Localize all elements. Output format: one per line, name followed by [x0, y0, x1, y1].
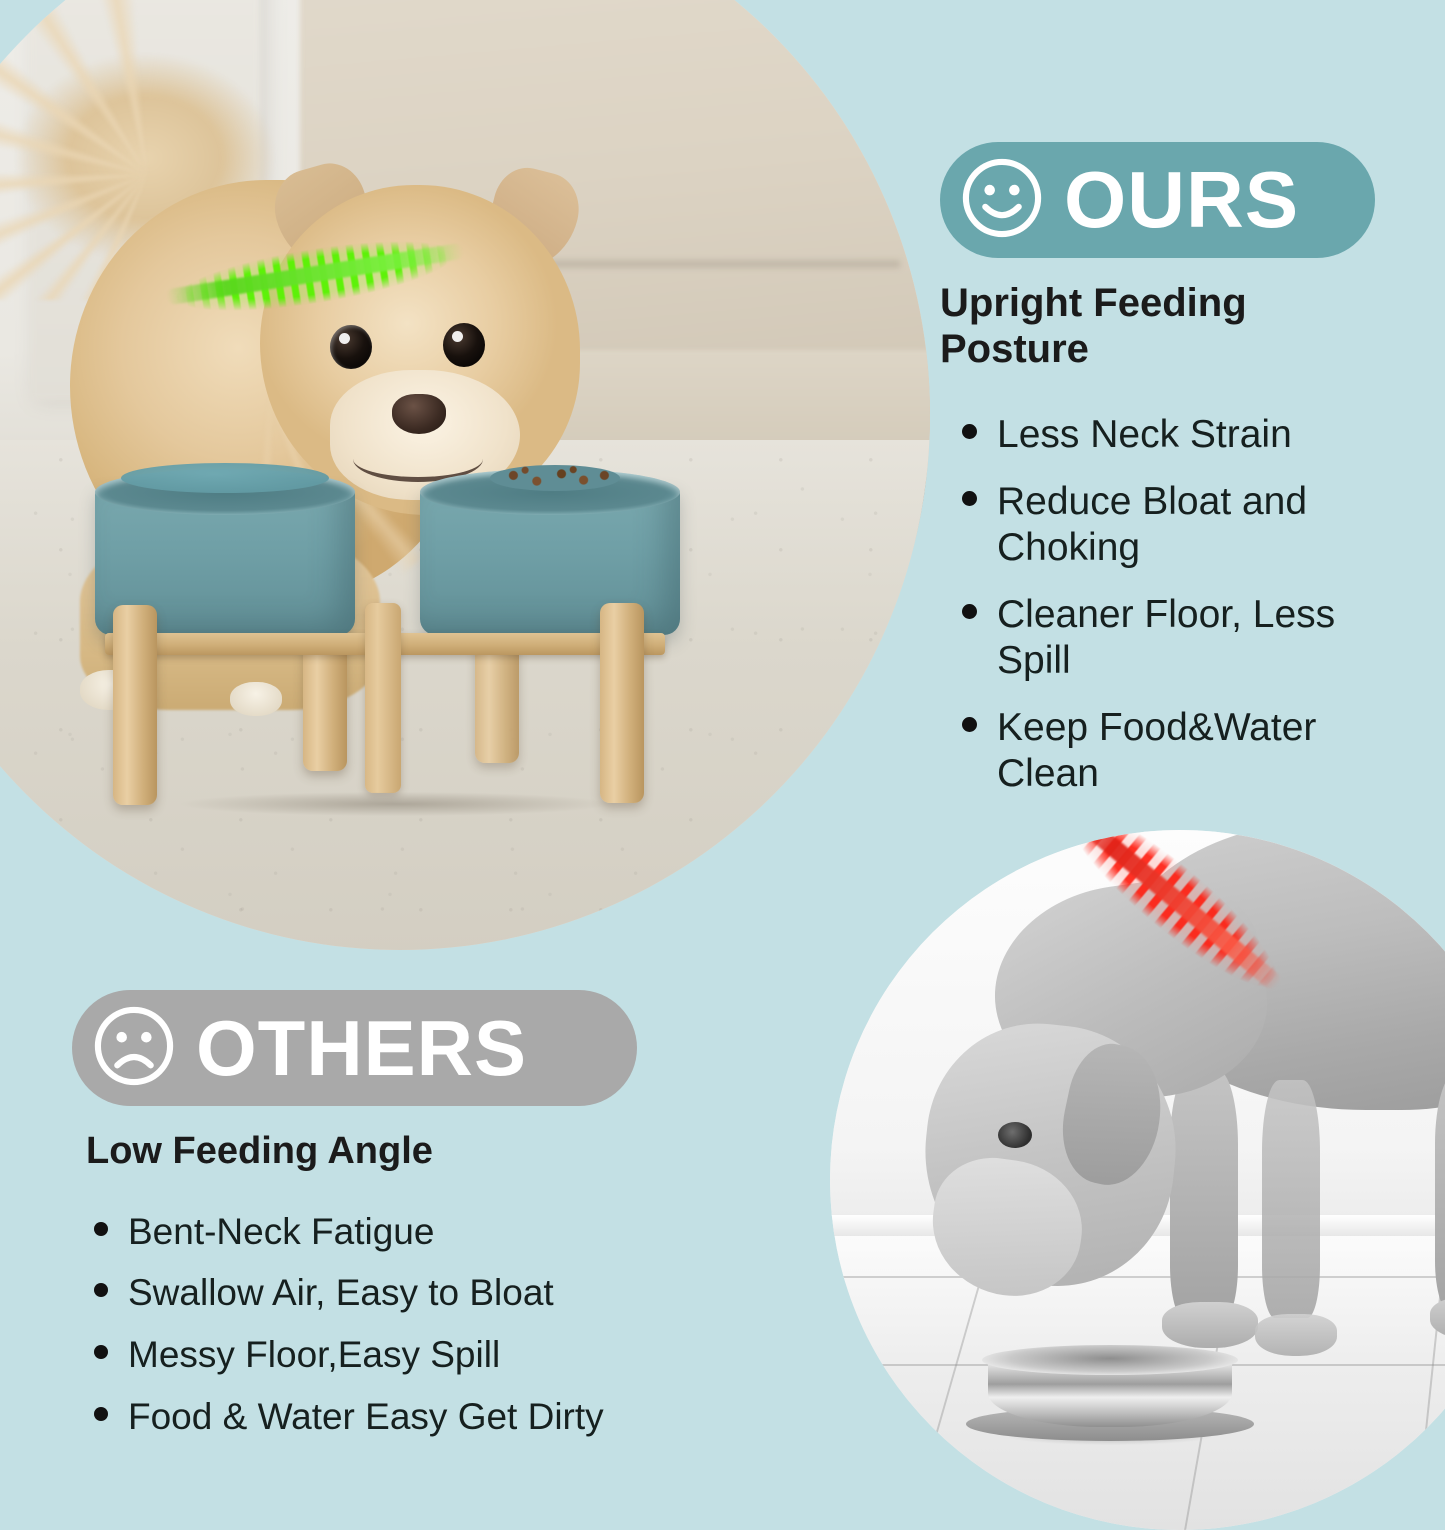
- list-item: Food & Water Easy Get Dirty: [94, 1395, 652, 1439]
- ours-benefits-list: Less Neck Strain Reduce Bloat and Chokin…: [962, 412, 1390, 797]
- dog-paw: [1162, 1302, 1258, 1348]
- others-badge: OTHERS: [72, 990, 637, 1106]
- bullet-dot-icon: [962, 491, 977, 506]
- bullet-dot-icon: [94, 1283, 108, 1297]
- bullet-dot-icon: [94, 1222, 108, 1236]
- others-panel: OTHERS Low Feeding Angle Bent-Neck Fatig…: [72, 990, 652, 1456]
- bowl-rim: [982, 1345, 1238, 1375]
- ours-badge: OURS: [940, 142, 1375, 258]
- list-item-label: Food & Water Easy Get Dirty: [128, 1395, 604, 1439]
- pomeranian-with-elevated-bowls-photo: [0, 0, 930, 950]
- list-item-label: Cleaner Floor, Less Spill: [997, 592, 1390, 684]
- dog-eye-left: [330, 325, 372, 369]
- bowl-water: [121, 463, 329, 493]
- list-item: Messy Floor,Easy Spill: [94, 1333, 652, 1377]
- bowl-kibble: [490, 465, 620, 491]
- dog-paw: [1430, 1296, 1445, 1340]
- dog-paw: [1255, 1314, 1337, 1356]
- list-item-label: Swallow Air, Easy to Bloat: [128, 1271, 554, 1315]
- ours-panel: OURS Upright Feeding Posture Less Neck S…: [940, 142, 1390, 818]
- list-item: Cleaner Floor, Less Spill: [962, 592, 1390, 684]
- smiley-face-icon: [958, 154, 1046, 247]
- list-item-label: Messy Floor,Easy Spill: [128, 1333, 500, 1377]
- list-item: Swallow Air, Easy to Bloat: [94, 1271, 652, 1315]
- dog-nose: [392, 394, 446, 434]
- ours-subtitle: Upright Feeding Posture: [940, 280, 1390, 372]
- bullet-dot-icon: [962, 717, 977, 732]
- elevated-double-bowl-stand: [75, 475, 715, 805]
- sad-face-icon: [90, 1002, 178, 1095]
- large-dog-bending-to-floor-bowl-photo: [830, 830, 1445, 1530]
- others-badge-label: OTHERS: [196, 1009, 527, 1087]
- ours-badge-label: OURS: [1064, 160, 1299, 240]
- list-item-label: Less Neck Strain: [997, 412, 1292, 458]
- grey-dog: [870, 830, 1445, 1350]
- others-subtitle: Low Feeding Angle: [86, 1130, 652, 1174]
- stand-center-post: [365, 603, 401, 793]
- stand-shadow: [95, 787, 695, 821]
- list-item-label: Bent-Neck Fatigue: [128, 1210, 434, 1254]
- bullet-dot-icon: [962, 424, 977, 439]
- others-drawbacks-list: Bent-Neck Fatigue Swallow Air, Easy to B…: [94, 1210, 652, 1439]
- list-item: Reduce Bloat and Choking: [962, 479, 1390, 571]
- room-background: [0, 0, 930, 950]
- bullet-dot-icon: [94, 1345, 108, 1359]
- stand-leg: [113, 605, 157, 805]
- dog-eye-right: [443, 323, 485, 367]
- list-item: Bent-Neck Fatigue: [94, 1210, 652, 1254]
- bullet-dot-icon: [94, 1407, 108, 1421]
- list-item-label: Reduce Bloat and Choking: [997, 479, 1390, 571]
- stainless-floor-bowl: [960, 1345, 1260, 1441]
- list-item-label: Keep Food&Water Clean: [997, 705, 1390, 797]
- list-item: Less Neck Strain: [962, 412, 1390, 458]
- stand-leg: [600, 603, 644, 803]
- dog-front-leg: [1170, 1070, 1238, 1320]
- bowl-rim: [95, 469, 355, 515]
- dog-eye: [998, 1122, 1032, 1148]
- list-item: Keep Food&Water Clean: [962, 705, 1390, 797]
- bullet-dot-icon: [962, 604, 977, 619]
- dog-front-leg: [1262, 1080, 1320, 1318]
- bowl-rim: [420, 469, 680, 515]
